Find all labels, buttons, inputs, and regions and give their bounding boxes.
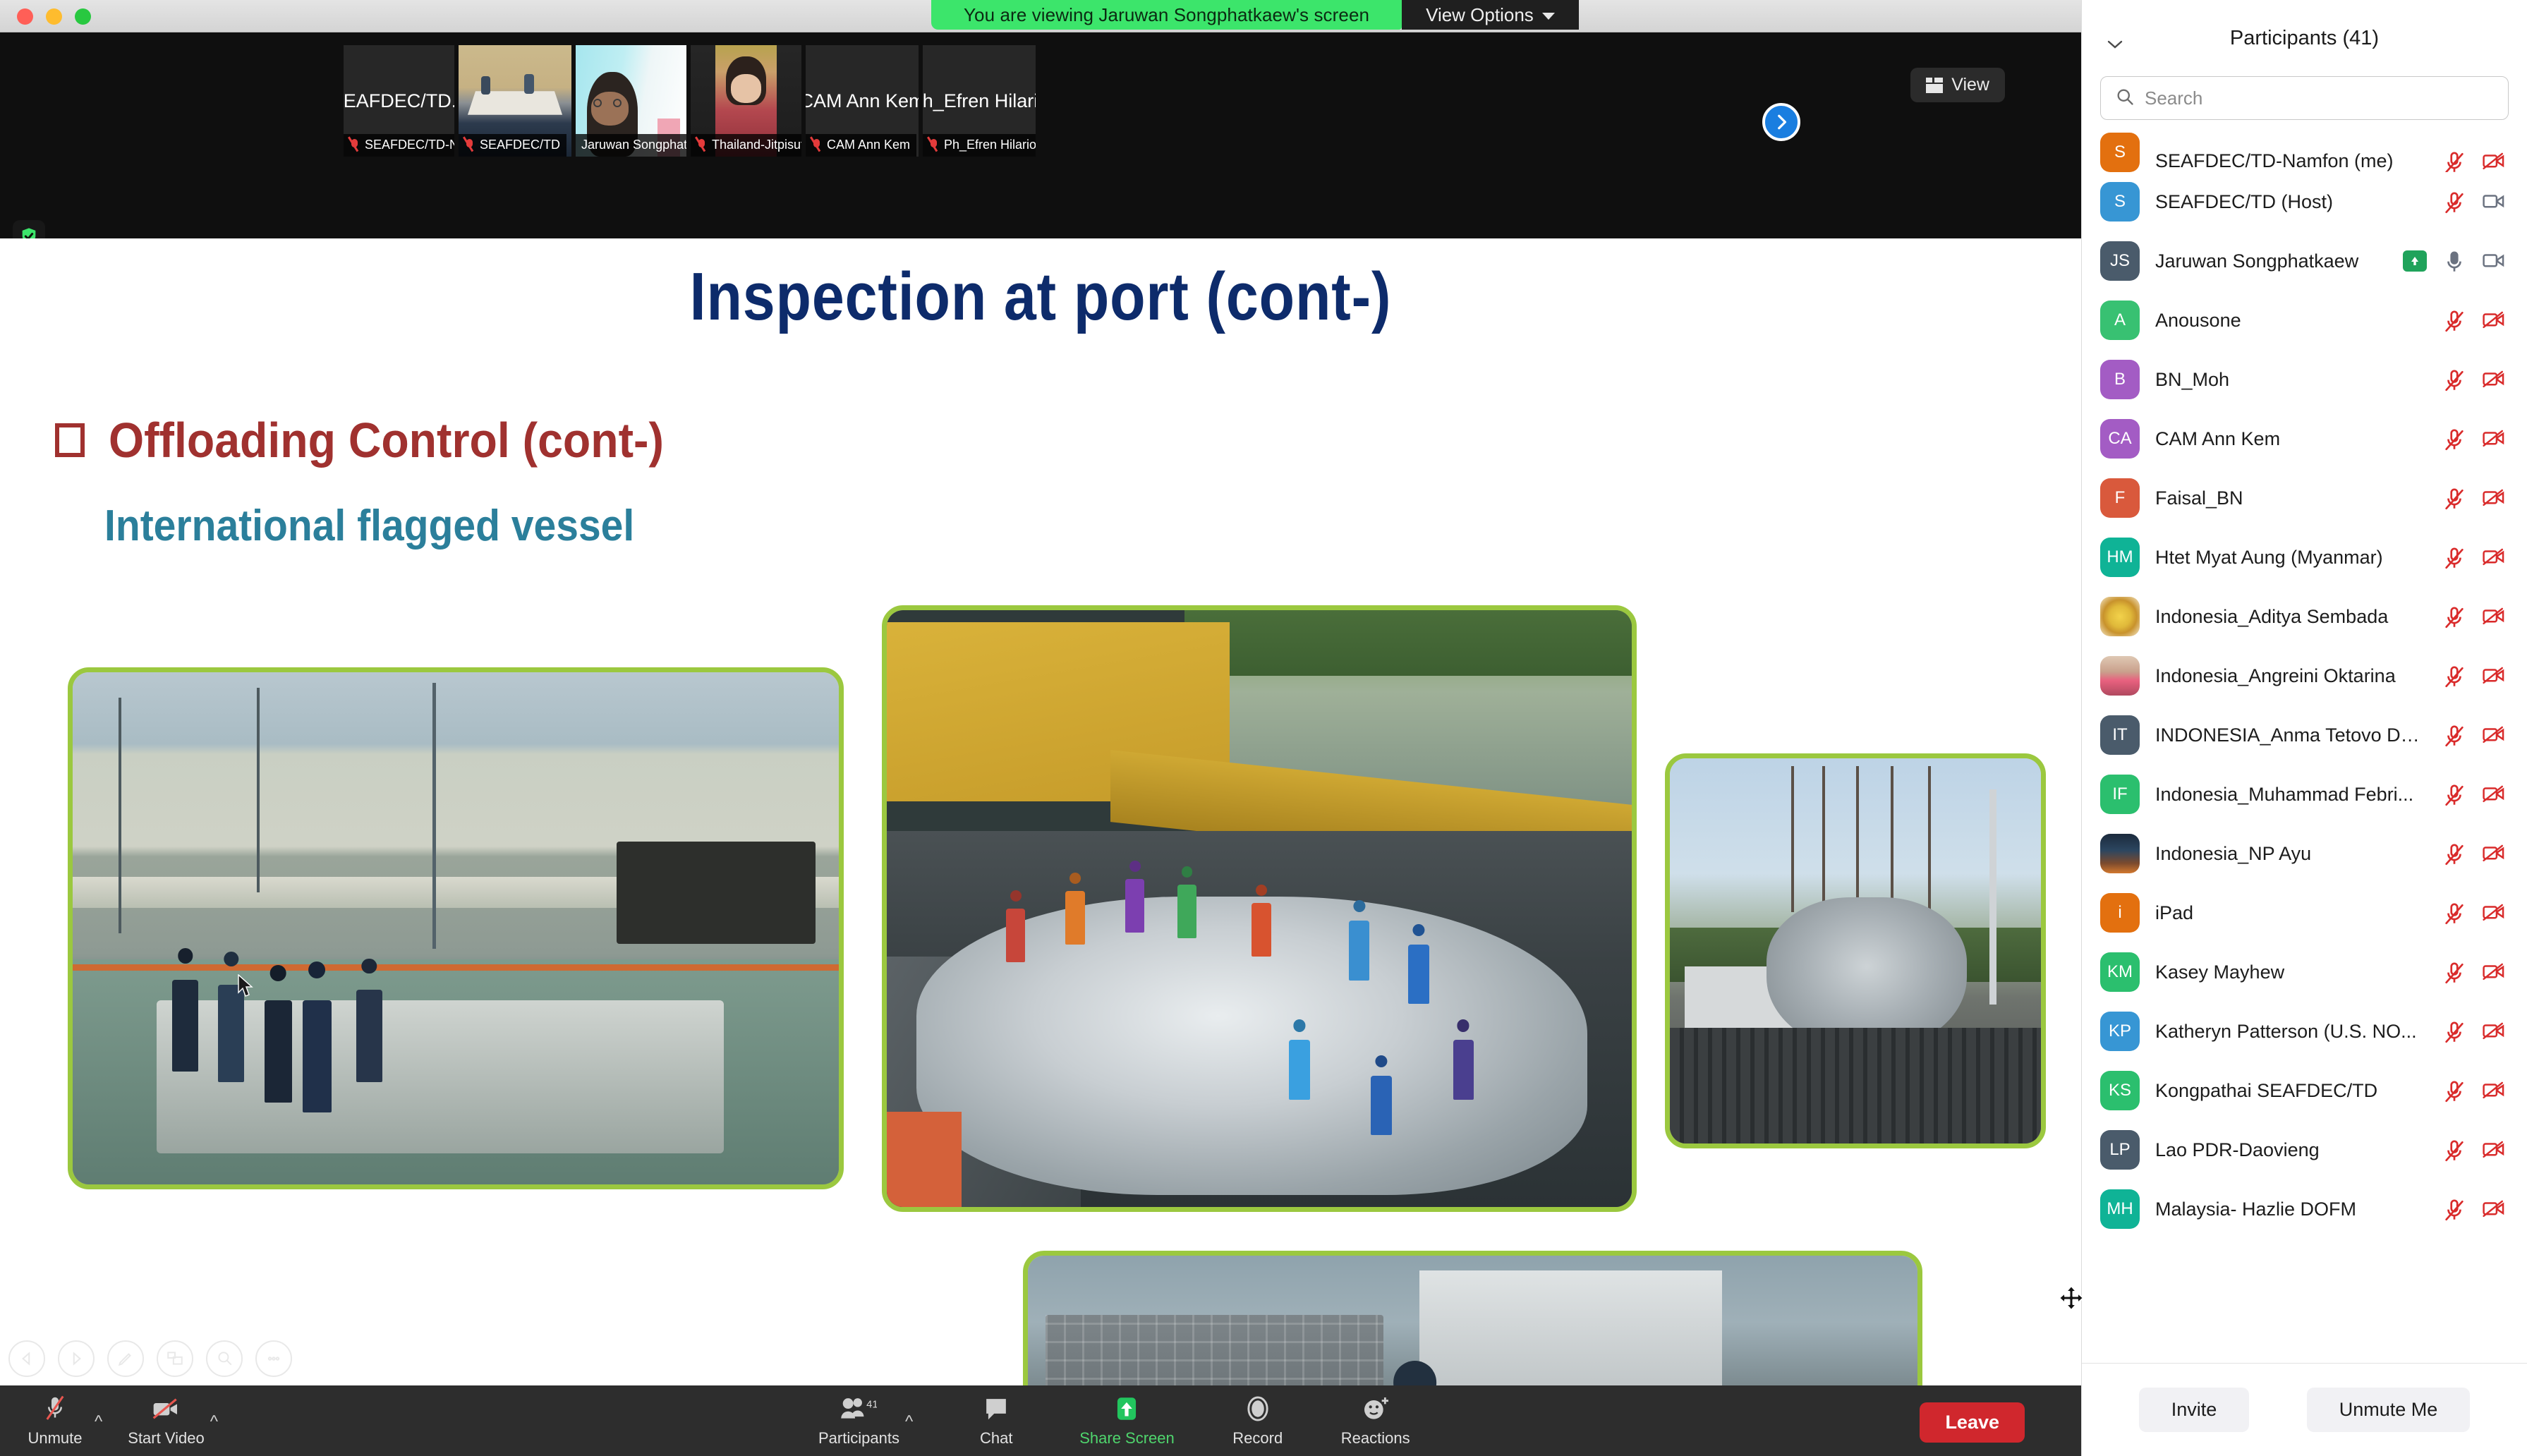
participant-status-icons bbox=[2442, 843, 2506, 864]
toolbar-participants-button[interactable]: 41 Participants bbox=[818, 1385, 899, 1448]
mic-off-icon bbox=[811, 138, 822, 152]
avatar bbox=[2100, 597, 2140, 636]
video-off-icon[interactable] bbox=[2482, 724, 2506, 746]
mic-off-icon bbox=[928, 138, 939, 152]
square-bullet-icon bbox=[55, 423, 85, 457]
video-tile-4[interactable]: CAM Ann Kem CAM Ann Kem bbox=[806, 45, 919, 157]
toolbar-record-button[interactable]: Record bbox=[1224, 1385, 1292, 1448]
participant-name: Kasey Mayhew bbox=[2155, 961, 2427, 983]
avatar: JS bbox=[2100, 241, 2140, 281]
list-item[interactable]: LP Lao PDR-Daovieng bbox=[2082, 1120, 2527, 1179]
mic-off-icon[interactable] bbox=[2442, 191, 2466, 212]
avatar-initials: IT bbox=[2112, 725, 2127, 745]
avatar bbox=[2100, 656, 2140, 696]
chevron-down-icon[interactable] bbox=[2104, 34, 2126, 57]
toolbar-chat-button[interactable]: Chat bbox=[962, 1385, 1030, 1448]
avatar: IT bbox=[2100, 715, 2140, 755]
participant-status-icons bbox=[2442, 487, 2506, 509]
participant-status-icons bbox=[2442, 151, 2506, 172]
avatar: LP bbox=[2100, 1130, 2140, 1170]
zoom-window-button[interactable] bbox=[75, 8, 91, 25]
bullet-heading-text: Offloading Control (cont-) bbox=[109, 412, 664, 468]
video-filmstrip: SEAFDEC/TD... SEAFDEC/TD-Namfon SEAFDEC/… bbox=[0, 32, 2081, 238]
avatar-initials: S bbox=[2114, 142, 2126, 162]
list-item[interactable]: i iPad bbox=[2082, 883, 2527, 942]
avatar-initials: B bbox=[2114, 370, 2126, 389]
list-item[interactable]: KS Kongpathai SEAFDEC/TD bbox=[2082, 1061, 2527, 1120]
shared-screen-content: Inspection at port (cont-) Offloading Co… bbox=[0, 238, 2081, 1385]
mic-off-icon bbox=[696, 138, 707, 152]
grid-view-icon bbox=[1926, 78, 1943, 93]
slide-title: Inspection at port (cont-) bbox=[146, 258, 1936, 336]
avatar-initials: KP bbox=[2109, 1021, 2131, 1041]
video-off-icon[interactable] bbox=[2482, 606, 2506, 627]
chat-icon bbox=[983, 1394, 1009, 1424]
avatar-initials: CA bbox=[2108, 429, 2131, 449]
avatar-initials: S bbox=[2114, 192, 2126, 212]
list-item[interactable]: HM Htet Myat Aung (Myanmar) bbox=[2082, 528, 2527, 587]
participant-name: Htet Myat Aung (Myanmar) bbox=[2155, 547, 2427, 569]
slide-photo-deck-inspection bbox=[68, 667, 844, 1189]
avatar bbox=[2100, 834, 2140, 873]
participant-name: Anousone bbox=[2155, 310, 2427, 332]
slide-bullet-heading: Offloading Control (cont-) bbox=[55, 412, 712, 468]
avatar: HM bbox=[2100, 538, 2140, 577]
video-on-icon[interactable] bbox=[2482, 191, 2506, 212]
video-tile-3[interactable]: Thailand-Jitpisut San... bbox=[691, 45, 801, 157]
video-off-icon[interactable] bbox=[2482, 665, 2506, 686]
meeting-toolbar: Unmute ^ Start Video ^ bbox=[0, 1385, 2081, 1456]
participant-status-icons bbox=[2442, 1021, 2506, 1042]
list-item[interactable]: A Anousone bbox=[2082, 291, 2527, 350]
list-item[interactable]: Indonesia_NP Ayu bbox=[2082, 824, 2527, 883]
tile-participant-name: Thailand-Jitpisut San... bbox=[712, 138, 801, 152]
list-item[interactable]: F Faisal_BN bbox=[2082, 468, 2527, 528]
avatar: F bbox=[2100, 478, 2140, 518]
toolbar-start-video-unit[interactable]: Start Video ^ bbox=[128, 1385, 218, 1448]
avatar-initials: KM bbox=[2107, 962, 2133, 982]
list-item[interactable]: S SEAFDEC/TD (Host) bbox=[2082, 172, 2527, 231]
video-off-icon[interactable] bbox=[2482, 151, 2506, 172]
toolbar-share-screen-button[interactable]: Share Screen bbox=[1079, 1385, 1175, 1448]
avatar: IF bbox=[2100, 775, 2140, 814]
annotate-pen-icon[interactable] bbox=[107, 1340, 144, 1377]
avatar-initials: i bbox=[2118, 903, 2121, 923]
participant-status-icons bbox=[2442, 369, 2506, 390]
participant-status-icons bbox=[2442, 428, 2506, 449]
list-item[interactable]: JS Jaruwan Songphatkaew bbox=[2082, 231, 2527, 291]
mic-off-icon[interactable] bbox=[2442, 961, 2466, 983]
participant-name: CAM Ann Kem bbox=[2155, 428, 2427, 450]
tile-participant-name: SEAFDEC/TD-Namfon bbox=[365, 138, 454, 152]
record-icon bbox=[1244, 1394, 1271, 1424]
toolbar-unmute-unit[interactable]: Unmute ^ bbox=[21, 1385, 102, 1448]
toolbar-unmute-button[interactable]: Unmute bbox=[21, 1385, 89, 1448]
list-item[interactable]: KM Kasey Mayhew bbox=[2082, 942, 2527, 1002]
tile-participant-name: Jaruwan Songphatkaew bbox=[581, 138, 686, 152]
slide-photo-fish-hold bbox=[882, 605, 1637, 1212]
magnify-icon[interactable] bbox=[206, 1340, 243, 1377]
participant-name: Indonesia_Aditya Sembada bbox=[2155, 606, 2427, 628]
participant-status-icons bbox=[2442, 665, 2506, 686]
video-off-icon[interactable] bbox=[2482, 784, 2506, 805]
mic-off-icon[interactable] bbox=[2442, 369, 2466, 390]
avatar: KM bbox=[2100, 952, 2140, 992]
video-tile-1[interactable]: SEAFDEC/TD bbox=[459, 45, 571, 157]
video-tile-0[interactable]: SEAFDEC/TD... SEAFDEC/TD-Namfon bbox=[344, 45, 454, 157]
video-tiles: SEAFDEC/TD... SEAFDEC/TD-Namfon SEAFDEC/… bbox=[344, 45, 1036, 157]
slide-photo-crane-net bbox=[1665, 753, 2046, 1148]
participant-status-icons bbox=[2442, 724, 2506, 746]
previous-slide-icon[interactable] bbox=[8, 1340, 45, 1377]
avatar: S bbox=[2100, 133, 2140, 172]
toolbar-label: Chat bbox=[980, 1429, 1012, 1448]
participant-status-icons bbox=[2442, 1139, 2506, 1160]
view-button-label: View bbox=[1951, 75, 1989, 95]
mic-off-icon[interactable] bbox=[2442, 843, 2466, 864]
svg-text:41: 41 bbox=[867, 1400, 878, 1411]
avatar: MH bbox=[2100, 1189, 2140, 1229]
avatar: CA bbox=[2100, 419, 2140, 459]
video-off-icon[interactable] bbox=[2482, 843, 2506, 864]
participant-name: Jaruwan Songphatkaew bbox=[2155, 250, 2387, 272]
list-item[interactable]: KP Katheryn Patterson (U.S. NO... bbox=[2082, 1002, 2527, 1061]
tile-name-badge: SEAFDEC/TD-Namfon bbox=[344, 134, 454, 157]
list-item[interactable]: Indonesia_Aditya Sembada bbox=[2082, 587, 2527, 646]
avatar: S bbox=[2100, 182, 2140, 222]
avatar-initials: A bbox=[2114, 310, 2126, 330]
minimize-window-button[interactable] bbox=[46, 8, 62, 25]
participants-panel-title: Participants (41) bbox=[2230, 27, 2379, 50]
participant-status-icons bbox=[2442, 606, 2506, 627]
tile-participant-name: Ph_Efren Hilario bbox=[944, 138, 1036, 152]
participant-status-icons bbox=[2442, 310, 2506, 331]
video-off-icon[interactable] bbox=[2482, 310, 2506, 331]
share-screen-icon bbox=[1115, 1394, 1139, 1424]
slide-subheading: International flagged vessel bbox=[104, 501, 634, 551]
mic-off-icon[interactable] bbox=[2442, 1021, 2466, 1042]
list-item[interactable]: Indonesia_Angreini Oktarina bbox=[2082, 646, 2527, 705]
tile-name-badge: Jaruwan Songphatkaew bbox=[576, 134, 686, 157]
mic-off-icon[interactable] bbox=[2442, 784, 2466, 805]
view-layout-button[interactable]: View bbox=[1910, 68, 2005, 102]
tile-name-badge: Thailand-Jitpisut San... bbox=[691, 134, 801, 157]
screen-share-banner: You are viewing Jaruwan Songphatkaew's s… bbox=[931, 0, 1579, 30]
participant-name: SEAFDEC/TD (Host) bbox=[2155, 191, 2427, 213]
mic-off-icon bbox=[349, 138, 360, 152]
tile-name-badge: CAM Ann Kem bbox=[806, 134, 916, 157]
participant-name: Indonesia_Muhammad Febri... bbox=[2155, 784, 2427, 806]
participants-icon: 41 bbox=[840, 1394, 877, 1424]
list-item[interactable]: IT INDONESIA_Anma Tetovo Da... bbox=[2082, 705, 2527, 765]
tile-name-badge: SEAFDEC/TD bbox=[459, 134, 566, 157]
list-item[interactable]: B BN_Moh bbox=[2082, 350, 2527, 409]
participant-status-icons bbox=[2442, 902, 2506, 923]
participant-name: Malaysia- Hazlie DOFM bbox=[2155, 1199, 2427, 1220]
participant-name: Faisal_BN bbox=[2155, 487, 2427, 509]
view-options-button[interactable]: View Options bbox=[1402, 0, 1579, 30]
mic-off-icon[interactable] bbox=[2442, 1080, 2466, 1101]
toolbar-label: Share Screen bbox=[1079, 1429, 1175, 1448]
participants-panel-footer: Invite Unmute Me bbox=[2082, 1363, 2527, 1456]
chevron-down-icon bbox=[1542, 13, 1555, 20]
avatar-initials: JS bbox=[2110, 251, 2130, 271]
participant-name: SEAFDEC/TD-Namfon (me) bbox=[2155, 150, 2427, 172]
avatar-initials: KS bbox=[2109, 1081, 2131, 1100]
participant-status-icons bbox=[2442, 1199, 2506, 1220]
participants-list[interactable]: S SEAFDEC/TD-Namfon (me) S SEAFDEC/TD (H… bbox=[2082, 133, 2527, 1363]
participant-name: Indonesia_Angreini Oktarina bbox=[2155, 665, 2427, 687]
video-off-icon[interactable] bbox=[2482, 1080, 2506, 1101]
video-options-caret-icon[interactable]: ^ bbox=[210, 1401, 218, 1432]
participant-status-icons bbox=[2442, 191, 2506, 212]
mic-off-icon[interactable] bbox=[2442, 151, 2466, 172]
mouse-cursor-resize bbox=[2057, 1284, 2085, 1316]
video-tile-2-active-speaker[interactable]: Jaruwan Songphatkaew bbox=[576, 45, 686, 157]
mic-off-icon[interactable] bbox=[2442, 606, 2466, 627]
participants-search-container bbox=[2082, 76, 2527, 133]
list-item[interactable]: MH Malaysia- Hazlie DOFM bbox=[2082, 1179, 2527, 1239]
mic-on-icon[interactable] bbox=[2442, 250, 2466, 272]
avatar-initials: MH bbox=[2107, 1199, 2133, 1219]
mic-off-icon[interactable] bbox=[2442, 1139, 2466, 1160]
toolbar-label: Record bbox=[1232, 1429, 1283, 1448]
participants-caret-icon[interactable]: ^ bbox=[905, 1401, 913, 1432]
participant-name: iPad bbox=[2155, 902, 2427, 924]
avatar: B bbox=[2100, 360, 2140, 399]
chevron-right-icon[interactable] bbox=[1762, 103, 1800, 141]
video-off-icon bbox=[152, 1394, 180, 1424]
participant-status-icons bbox=[2442, 784, 2506, 805]
mic-off-icon bbox=[464, 138, 475, 152]
toolbar-label: Participants bbox=[818, 1429, 899, 1448]
toolbar-label: Start Video bbox=[128, 1429, 204, 1448]
list-item[interactable]: IF Indonesia_Muhammad Febri... bbox=[2082, 765, 2527, 824]
mic-off-icon[interactable] bbox=[2442, 547, 2466, 568]
participant-status-icons bbox=[2442, 961, 2506, 983]
video-off-icon[interactable] bbox=[2482, 428, 2506, 449]
toolbar-reactions-button[interactable]: Reactions bbox=[1341, 1385, 1410, 1448]
video-off-icon[interactable] bbox=[2482, 1199, 2506, 1220]
video-tile-5[interactable]: Ph_Efren Hilario Ph_Efren Hilario bbox=[923, 45, 1036, 157]
participant-status-icons bbox=[2442, 547, 2506, 568]
zoom-meeting-window: You are viewing Jaruwan Songphatkaew's s… bbox=[0, 0, 2527, 1456]
video-off-icon[interactable] bbox=[2482, 1021, 2506, 1042]
toolbar-start-video-button[interactable]: Start Video bbox=[128, 1385, 204, 1448]
search-icon bbox=[2115, 87, 2135, 110]
video-off-icon[interactable] bbox=[2482, 902, 2506, 923]
screen-share-badge-icon bbox=[2403, 250, 2427, 272]
mic-off-icon[interactable] bbox=[2442, 310, 2466, 331]
toolbar-label: Reactions bbox=[1341, 1429, 1410, 1448]
participant-status-icons bbox=[2442, 1080, 2506, 1101]
search-input[interactable] bbox=[2145, 87, 2494, 109]
more-options-icon[interactable] bbox=[255, 1340, 292, 1377]
mic-off-icon[interactable] bbox=[2442, 724, 2466, 746]
leave-meeting-button[interactable]: Leave bbox=[1920, 1402, 2025, 1443]
participant-status-icons bbox=[2403, 250, 2506, 272]
avatar: KP bbox=[2100, 1012, 2140, 1051]
unmute-me-button[interactable]: Unmute Me bbox=[2307, 1388, 2471, 1432]
mic-off-icon[interactable] bbox=[2442, 1199, 2466, 1220]
avatar-initials: HM bbox=[2107, 547, 2133, 567]
video-off-icon[interactable] bbox=[2482, 1139, 2506, 1160]
participants-panel: Participants (41) S SEAFDEC/TD-Namfon (m… bbox=[2081, 0, 2527, 1456]
list-item[interactable]: CA CAM Ann Kem bbox=[2082, 409, 2527, 468]
next-slide-icon[interactable] bbox=[58, 1340, 95, 1377]
avatar-initials: F bbox=[2115, 488, 2126, 508]
participant-name: Lao PDR-Daovieng bbox=[2155, 1139, 2427, 1161]
mic-off-icon bbox=[44, 1394, 66, 1424]
tile-participant-name: CAM Ann Kem bbox=[827, 138, 910, 152]
reactions-icon bbox=[1362, 1394, 1390, 1424]
toolbar-label: Unmute bbox=[28, 1429, 82, 1448]
mic-off-icon[interactable] bbox=[2442, 902, 2466, 923]
participant-name: Indonesia_NP Ayu bbox=[2155, 843, 2427, 865]
avatar-initials: LP bbox=[2109, 1140, 2130, 1160]
video-off-icon[interactable] bbox=[2482, 487, 2506, 509]
participant-name: INDONESIA_Anma Tetovo Da... bbox=[2155, 724, 2427, 746]
mic-off-icon[interactable] bbox=[2442, 665, 2466, 686]
invite-button[interactable]: Invite bbox=[2139, 1388, 2250, 1432]
video-off-icon[interactable] bbox=[2482, 547, 2506, 568]
mic-off-icon[interactable] bbox=[2442, 487, 2466, 509]
participants-panel-header: Participants (41) bbox=[2082, 0, 2527, 76]
participant-name: Kongpathai SEAFDEC/TD bbox=[2155, 1080, 2427, 1102]
avatar-initials: IF bbox=[2112, 784, 2127, 804]
window-controls[interactable] bbox=[17, 8, 91, 25]
windows-icon[interactable] bbox=[157, 1340, 193, 1377]
video-off-icon[interactable] bbox=[2482, 961, 2506, 983]
avatar: KS bbox=[2100, 1071, 2140, 1110]
video-on-icon[interactable] bbox=[2482, 250, 2506, 272]
tile-participant-name: SEAFDEC/TD bbox=[480, 138, 560, 152]
audio-options-caret-icon[interactable]: ^ bbox=[95, 1401, 102, 1432]
slide-photo-quay bbox=[1023, 1251, 1922, 1385]
avatar: A bbox=[2100, 301, 2140, 340]
video-off-icon[interactable] bbox=[2482, 369, 2506, 390]
participant-name: BN_Moh bbox=[2155, 369, 2427, 391]
participant-name: Katheryn Patterson (U.S. NO... bbox=[2155, 1021, 2427, 1043]
tile-name-badge: Ph_Efren Hilario bbox=[923, 134, 1036, 157]
list-item[interactable]: S SEAFDEC/TD-Namfon (me) bbox=[2082, 133, 2527, 172]
share-banner-message: You are viewing Jaruwan Songphatkaew's s… bbox=[931, 0, 1402, 30]
avatar: i bbox=[2100, 893, 2140, 933]
mouse-cursor-arrow bbox=[237, 974, 255, 1002]
search-box[interactable] bbox=[2100, 76, 2509, 120]
mic-off-icon[interactable] bbox=[2442, 428, 2466, 449]
view-options-label: View Options bbox=[1426, 4, 1534, 26]
close-window-button[interactable] bbox=[17, 8, 33, 25]
toolbar-participants-unit[interactable]: 41 Participants ^ bbox=[818, 1385, 913, 1448]
annotation-toolbar[interactable] bbox=[8, 1340, 292, 1377]
